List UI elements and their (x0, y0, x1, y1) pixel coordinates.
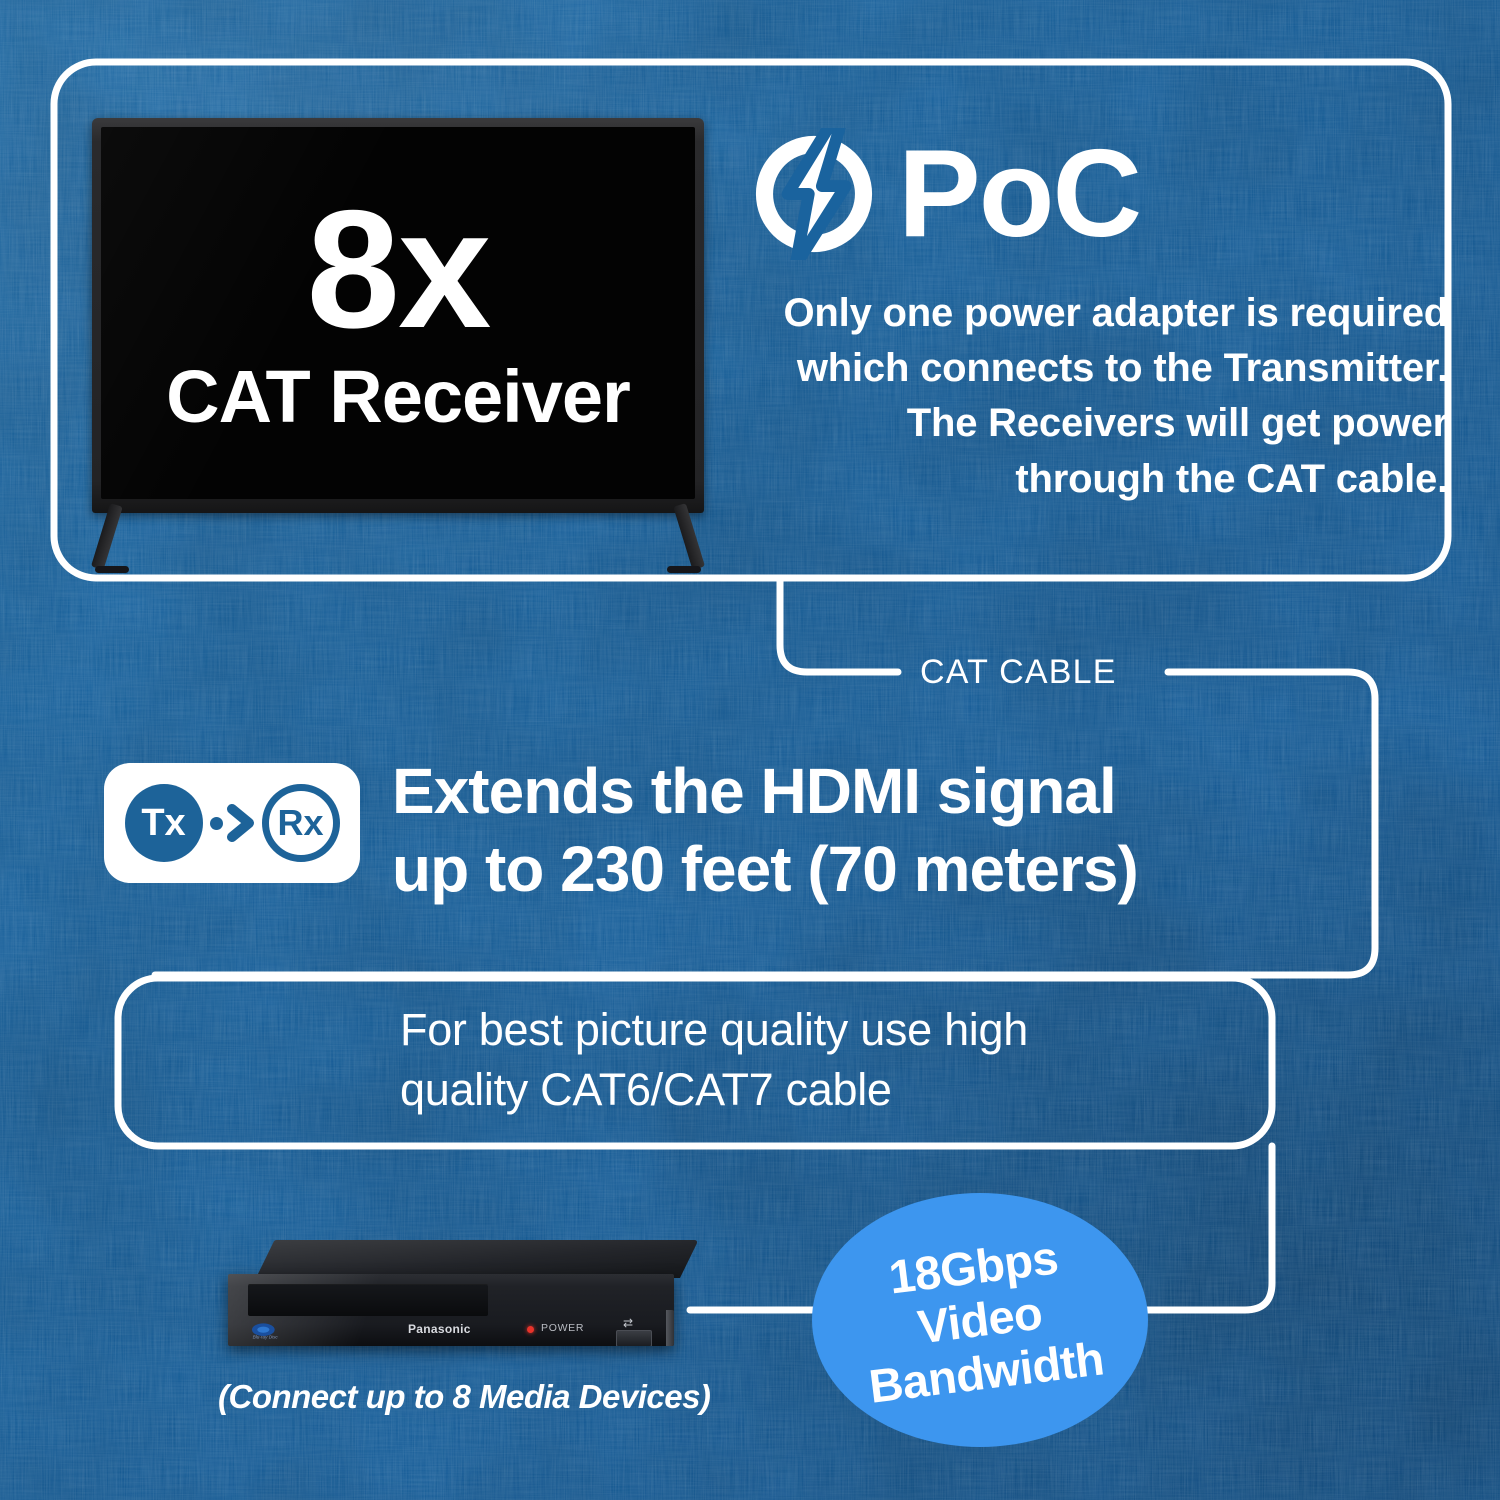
bluray-player-illustration: Blu-ray Disc Panasonic POWER DMP-BD84 ⇄ … (228, 1240, 680, 1350)
chevron-glyph (227, 803, 255, 843)
poc-description: Only one power adapter is required which… (748, 286, 1448, 507)
chevron-right-icon (210, 803, 255, 843)
disc-tray (248, 1284, 488, 1316)
hdmi-heading-line-2: up to 230 feet (70 meters) (392, 830, 1312, 908)
transmitter-label: Tx (141, 802, 185, 845)
hdmi-heading-line-1: Extends the HDMI signal (392, 752, 1312, 830)
hdmi-distance-heading: Extends the HDMI signal up to 230 feet (… (392, 752, 1312, 908)
poc-title: PoC (898, 132, 1140, 256)
power-label: POWER (541, 1322, 584, 1334)
cable-quality-line-1: For best picture quality use high (400, 1000, 1120, 1060)
tv-foot-right (667, 566, 701, 573)
power-led-indicator (527, 1326, 534, 1333)
poc-heading: PoC (748, 128, 1448, 260)
tv-leg-left (91, 503, 123, 570)
receiver-label: CAT Receiver (166, 360, 630, 434)
poc-block: PoC Only one power adapter is required w… (748, 128, 1448, 507)
cat-cable-label: CAT CABLE (920, 653, 1117, 692)
cable-quality-note: For best picture quality use high qualit… (400, 1000, 1120, 1121)
tv-leg-right (673, 503, 705, 570)
receiver-count: 8x (307, 192, 490, 347)
receiver-label: Rx (277, 802, 323, 844)
power-bolt-icon (748, 128, 880, 260)
tv-receiver-illustration: 8x CAT Receiver (92, 118, 704, 513)
tv-screen: 8x CAT Receiver (101, 127, 695, 499)
transmitter-circle: Tx (125, 784, 203, 862)
tv-foot-left (95, 566, 129, 573)
bandwidth-text: 18Gbps Video Bandwidth (853, 1227, 1106, 1414)
arrow-dot (210, 817, 223, 830)
usb-icon: ⇄ (623, 1316, 633, 1330)
media-devices-note: (Connect up to 8 Media Devices) (218, 1378, 710, 1416)
svg-text:Blu-ray Disc: Blu-ray Disc (253, 1334, 279, 1339)
usb-port (616, 1330, 652, 1346)
player-front-panel: Blu-ray Disc Panasonic POWER DMP-BD84 ⇄ … (228, 1274, 674, 1346)
wire-cat-cable-left (780, 578, 898, 672)
tx-rx-badge: Tx Rx (104, 763, 360, 883)
cable-quality-line-2: quality CAT6/CAT7 cable (400, 1060, 1120, 1120)
bandwidth-badge: 18Gbps Video Bandwidth (812, 1193, 1148, 1447)
player-brand: Panasonic (408, 1322, 471, 1336)
receiver-circle: Rx (262, 784, 340, 862)
player-top-surface (256, 1240, 699, 1278)
infographic-canvas: 8x CAT Receiver PoC Only one power adapt… (0, 0, 1500, 1500)
player-right-edge (666, 1310, 674, 1346)
blu-ray-disc-logo: Blu-ray Disc (250, 1322, 290, 1340)
